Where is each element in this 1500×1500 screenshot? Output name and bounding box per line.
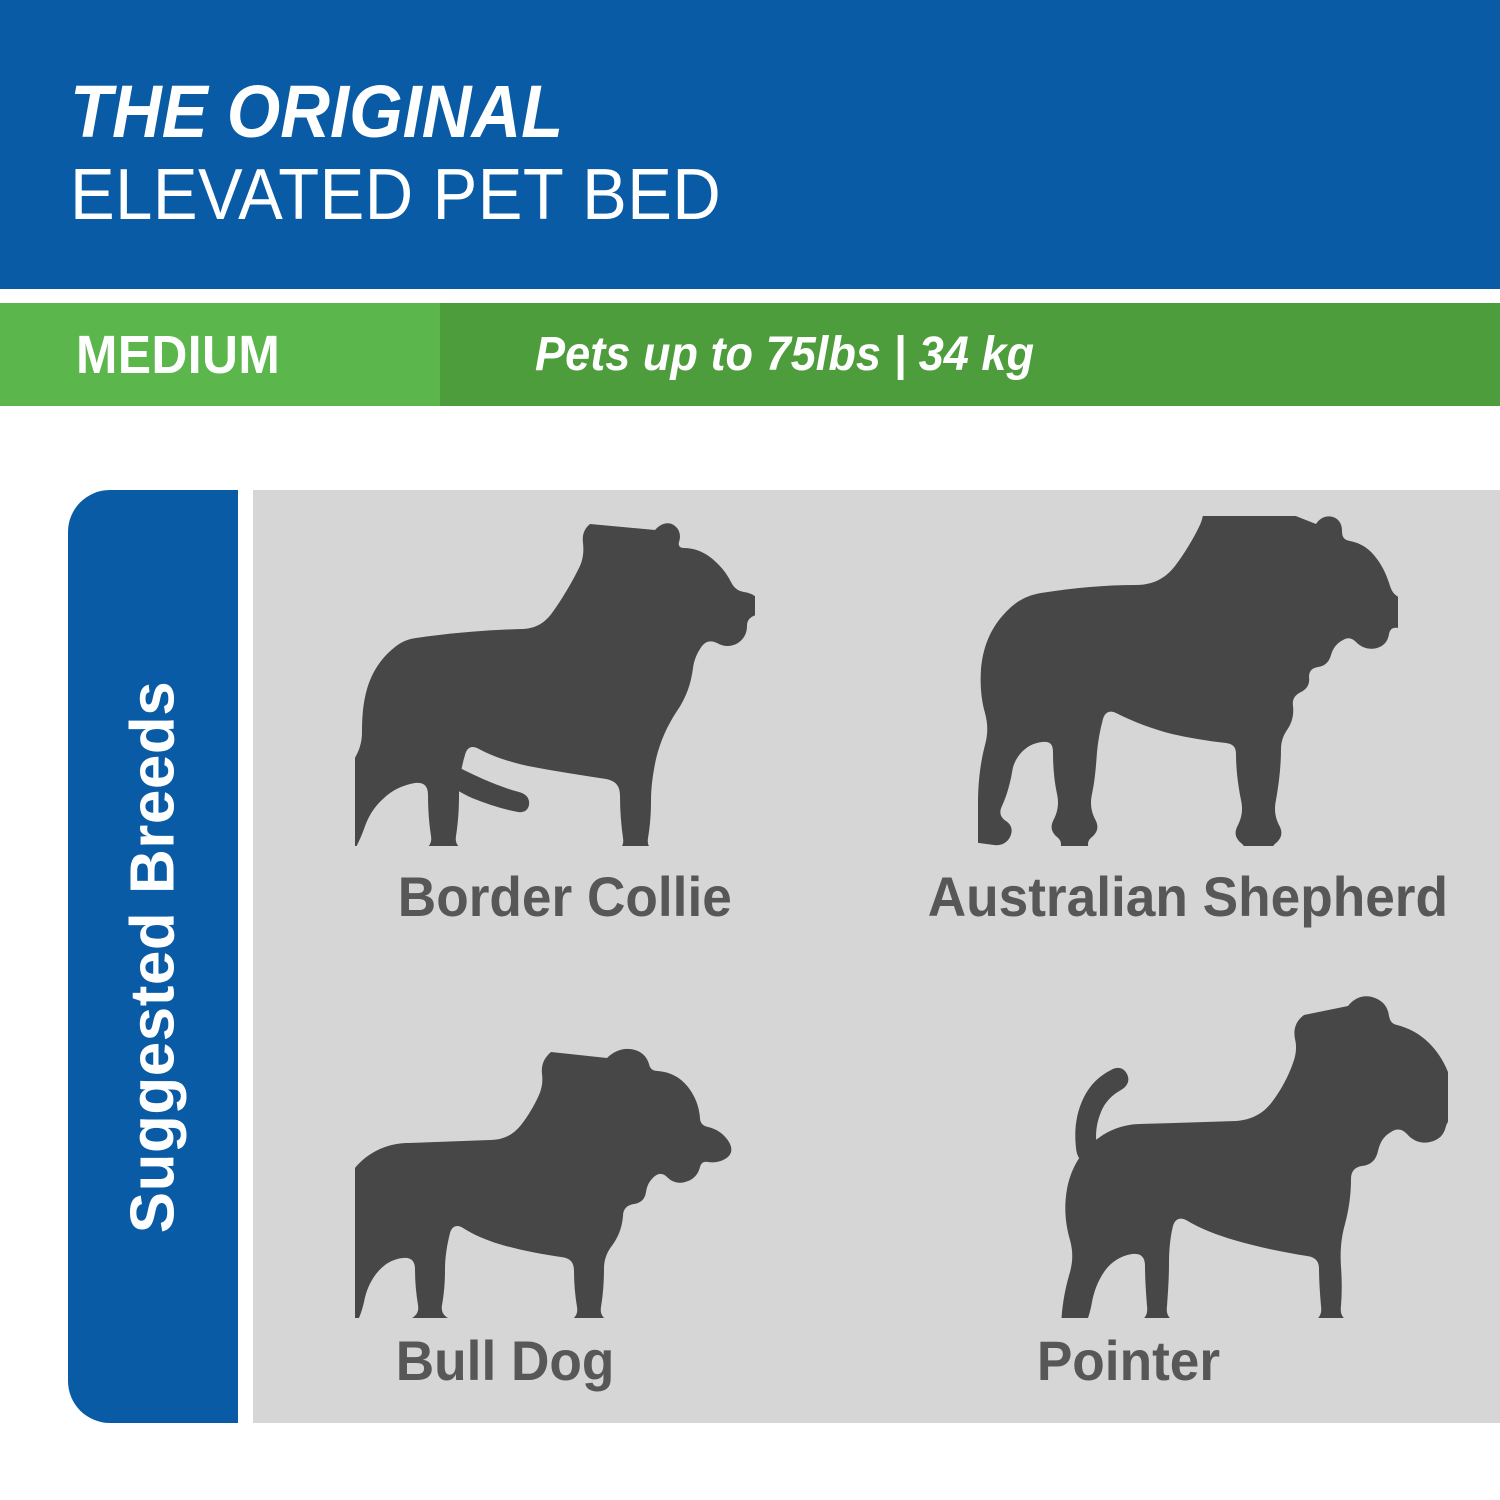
breed-label: Border Collie (398, 864, 732, 929)
breed-item-australian-shepherd: Australian Shepherd (877, 490, 1500, 957)
breed-item-border-collie: Border Collie (253, 490, 877, 957)
page-title-primary: THE ORIGINAL (70, 72, 1186, 152)
page-title-secondary: ELEVATED PET BED (70, 152, 1186, 238)
border-collie-silhouette-icon (355, 506, 755, 846)
breed-label: Australian Shepherd (928, 864, 1448, 929)
breed-item-bull-dog: Bull Dog (253, 957, 877, 1424)
breed-item-pointer: Pointer (877, 957, 1500, 1424)
capacity-label: Pets up to 75lbs | 34 kg (535, 327, 1034, 382)
suggested-breeds-panel: Border Collie Australian Shepherd Bull D… (253, 490, 1500, 1423)
suggested-breeds-tab-label: Suggested Breeds (118, 680, 189, 1232)
size-banner: MEDIUM Pets up to 75lbs | 34 kg (0, 303, 1500, 406)
pointer-silhouette-icon (988, 978, 1448, 1318)
product-size-infographic: THE ORIGINAL ELEVATED PET BED MEDIUM Pet… (0, 0, 1500, 1500)
suggested-breeds-tab: Suggested Breeds (68, 490, 238, 1423)
capacity-chip: Pets up to 75lbs | 34 kg (440, 303, 1500, 406)
size-chip: MEDIUM (0, 303, 440, 406)
header-title-block: THE ORIGINAL ELEVATED PET BED (70, 72, 1270, 238)
australian-shepherd-silhouette-icon (978, 506, 1398, 846)
breed-label: Bull Dog (395, 1328, 614, 1393)
bulldog-silhouette-icon (355, 978, 735, 1318)
header-banner: THE ORIGINAL ELEVATED PET BED (0, 0, 1500, 289)
breeds-grid: Border Collie Australian Shepherd Bull D… (253, 490, 1500, 1423)
breed-label: Pointer (1037, 1328, 1220, 1393)
size-label: MEDIUM (76, 324, 280, 386)
